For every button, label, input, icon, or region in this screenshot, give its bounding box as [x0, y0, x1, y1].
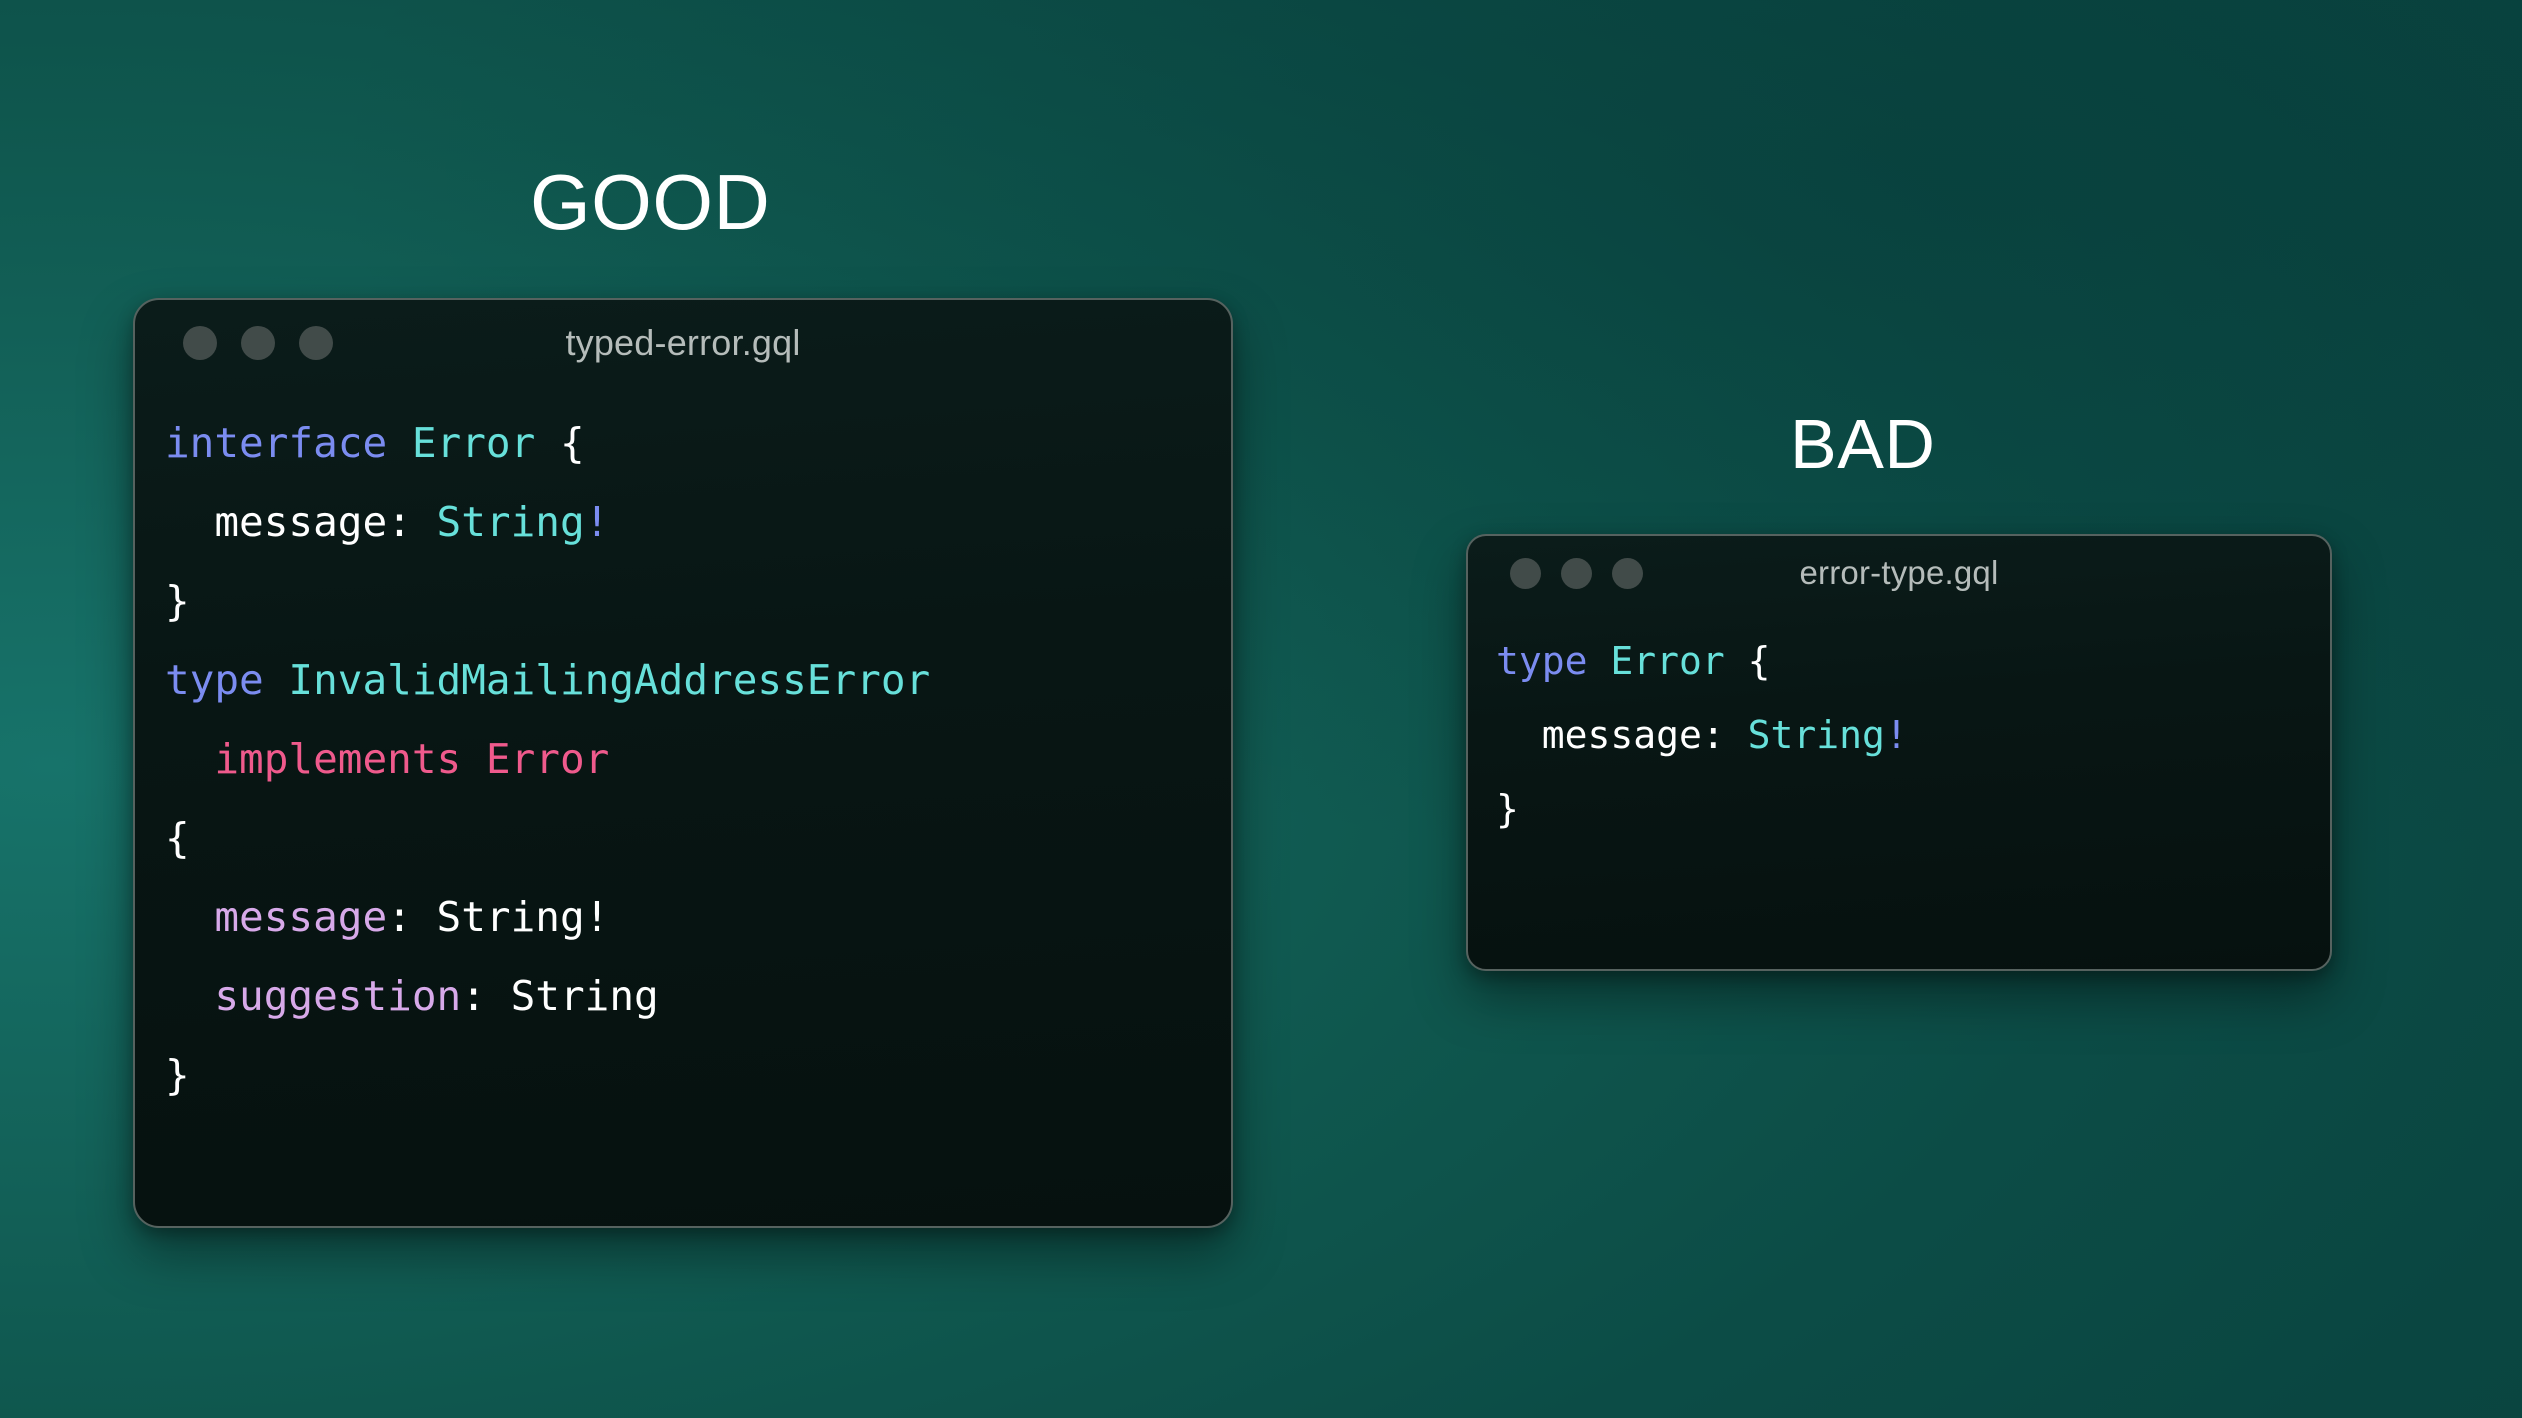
code-token-type: InvalidMailingAddressError — [288, 656, 930, 704]
code-line: implements Error — [165, 720, 1231, 799]
good-traffic-lights — [183, 326, 333, 360]
bad-heading: BAD — [1790, 409, 1935, 479]
good-code-block: interface Error { message: String! } typ… — [135, 386, 1231, 1115]
code-token-plain: { — [165, 814, 190, 862]
code-line: message: String! — [165, 483, 1231, 562]
code-token-type: Error — [412, 419, 535, 467]
code-line: } — [165, 1036, 1231, 1115]
code-token-plain: { — [535, 419, 584, 467]
bad-code-block: type Error { message: String! } — [1468, 610, 2330, 846]
code-token-field: message — [165, 893, 387, 941]
close-dot-icon[interactable] — [183, 326, 217, 360]
code-token-type: Error — [1610, 639, 1724, 683]
code-token-type: String — [1748, 713, 1885, 757]
code-token-plain: } — [165, 1051, 190, 1099]
good-code-window: typed-error.gql interface Error { messag… — [133, 298, 1233, 1228]
code-token-type: String — [437, 498, 585, 546]
code-token-plain: message: — [165, 498, 437, 546]
code-line: interface Error { — [165, 404, 1231, 483]
code-line: type Error { — [1496, 624, 2330, 698]
code-token-plain: : String! — [387, 893, 609, 941]
code-token-field: suggestion — [165, 972, 461, 1020]
code-line: { — [165, 799, 1231, 878]
code-token-plain: } — [1496, 787, 1519, 831]
good-window-titlebar: typed-error.gql — [135, 300, 1231, 386]
code-line: message: String! — [1496, 698, 2330, 772]
code-token-bang: ! — [585, 498, 610, 546]
good-heading: GOOD — [530, 163, 770, 241]
code-token-keyword: type — [165, 656, 288, 704]
code-token-keyword: type — [1496, 639, 1610, 683]
code-token-keyword: interface — [165, 419, 412, 467]
minimize-dot-icon[interactable] — [241, 326, 275, 360]
minimize-dot-icon[interactable] — [1561, 558, 1592, 589]
code-token-plain: { — [1725, 639, 1771, 683]
maximize-dot-icon[interactable] — [299, 326, 333, 360]
code-token-plain: message: — [1496, 713, 1748, 757]
close-dot-icon[interactable] — [1510, 558, 1541, 589]
code-token-impl: implements Error — [165, 735, 609, 783]
maximize-dot-icon[interactable] — [1612, 558, 1643, 589]
bad-traffic-lights — [1510, 558, 1643, 589]
code-line: suggestion: String — [165, 957, 1231, 1036]
bad-code-window: error-type.gql type Error { message: Str… — [1466, 534, 2332, 971]
bad-window-titlebar: error-type.gql — [1468, 536, 2330, 610]
code-line: } — [165, 562, 1231, 641]
code-token-bang: ! — [1885, 713, 1908, 757]
code-line: message: String! — [165, 878, 1231, 957]
code-line: } — [1496, 772, 2330, 846]
code-line: type InvalidMailingAddressError — [165, 641, 1231, 720]
code-token-plain: : String — [461, 972, 658, 1020]
code-token-plain: } — [165, 577, 190, 625]
